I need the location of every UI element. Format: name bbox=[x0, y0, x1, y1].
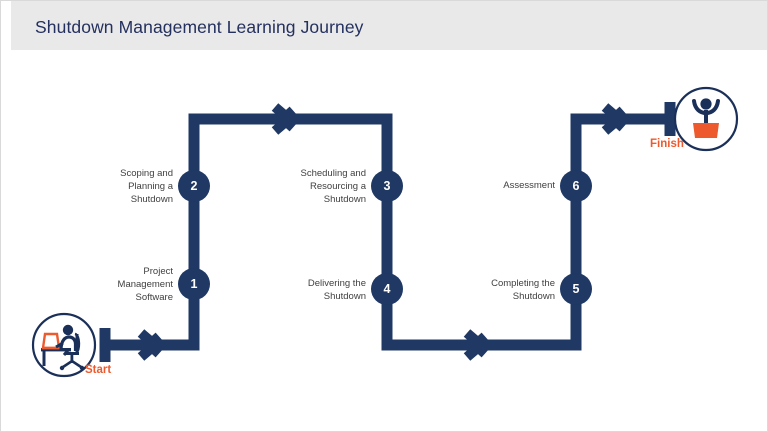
start-label: Start bbox=[85, 364, 111, 376]
step-number-6: 6 bbox=[560, 170, 592, 202]
step-label-4: Delivering the Shutdown bbox=[259, 277, 366, 303]
step-number-1: 1 bbox=[178, 268, 210, 300]
slide-canvas: Shutdown Management Learning Journey .pa… bbox=[0, 0, 768, 432]
flow-path bbox=[105, 119, 670, 345]
step-number-3: 3 bbox=[371, 170, 403, 202]
finish-label: Finish bbox=[650, 138, 684, 150]
step-number-5: 5 bbox=[560, 273, 592, 305]
learning-journey-diagram: .pathline { fill: none; stroke: #1f3864;… bbox=[1, 1, 768, 432]
step-label-3: Scheduling and Resourcing a Shutdown bbox=[259, 167, 366, 206]
step-label-2: Scoping and Planning a Shutdown bbox=[73, 167, 173, 206]
step-label-5: Completing the Shutdown bbox=[453, 277, 555, 303]
person-on-podium-icon bbox=[675, 88, 737, 150]
step-number-2: 2 bbox=[178, 170, 210, 202]
step-label-1: Project Management Software bbox=[73, 265, 173, 304]
step-number-4: 4 bbox=[371, 273, 403, 305]
step-label-6: Assessment bbox=[453, 179, 555, 192]
